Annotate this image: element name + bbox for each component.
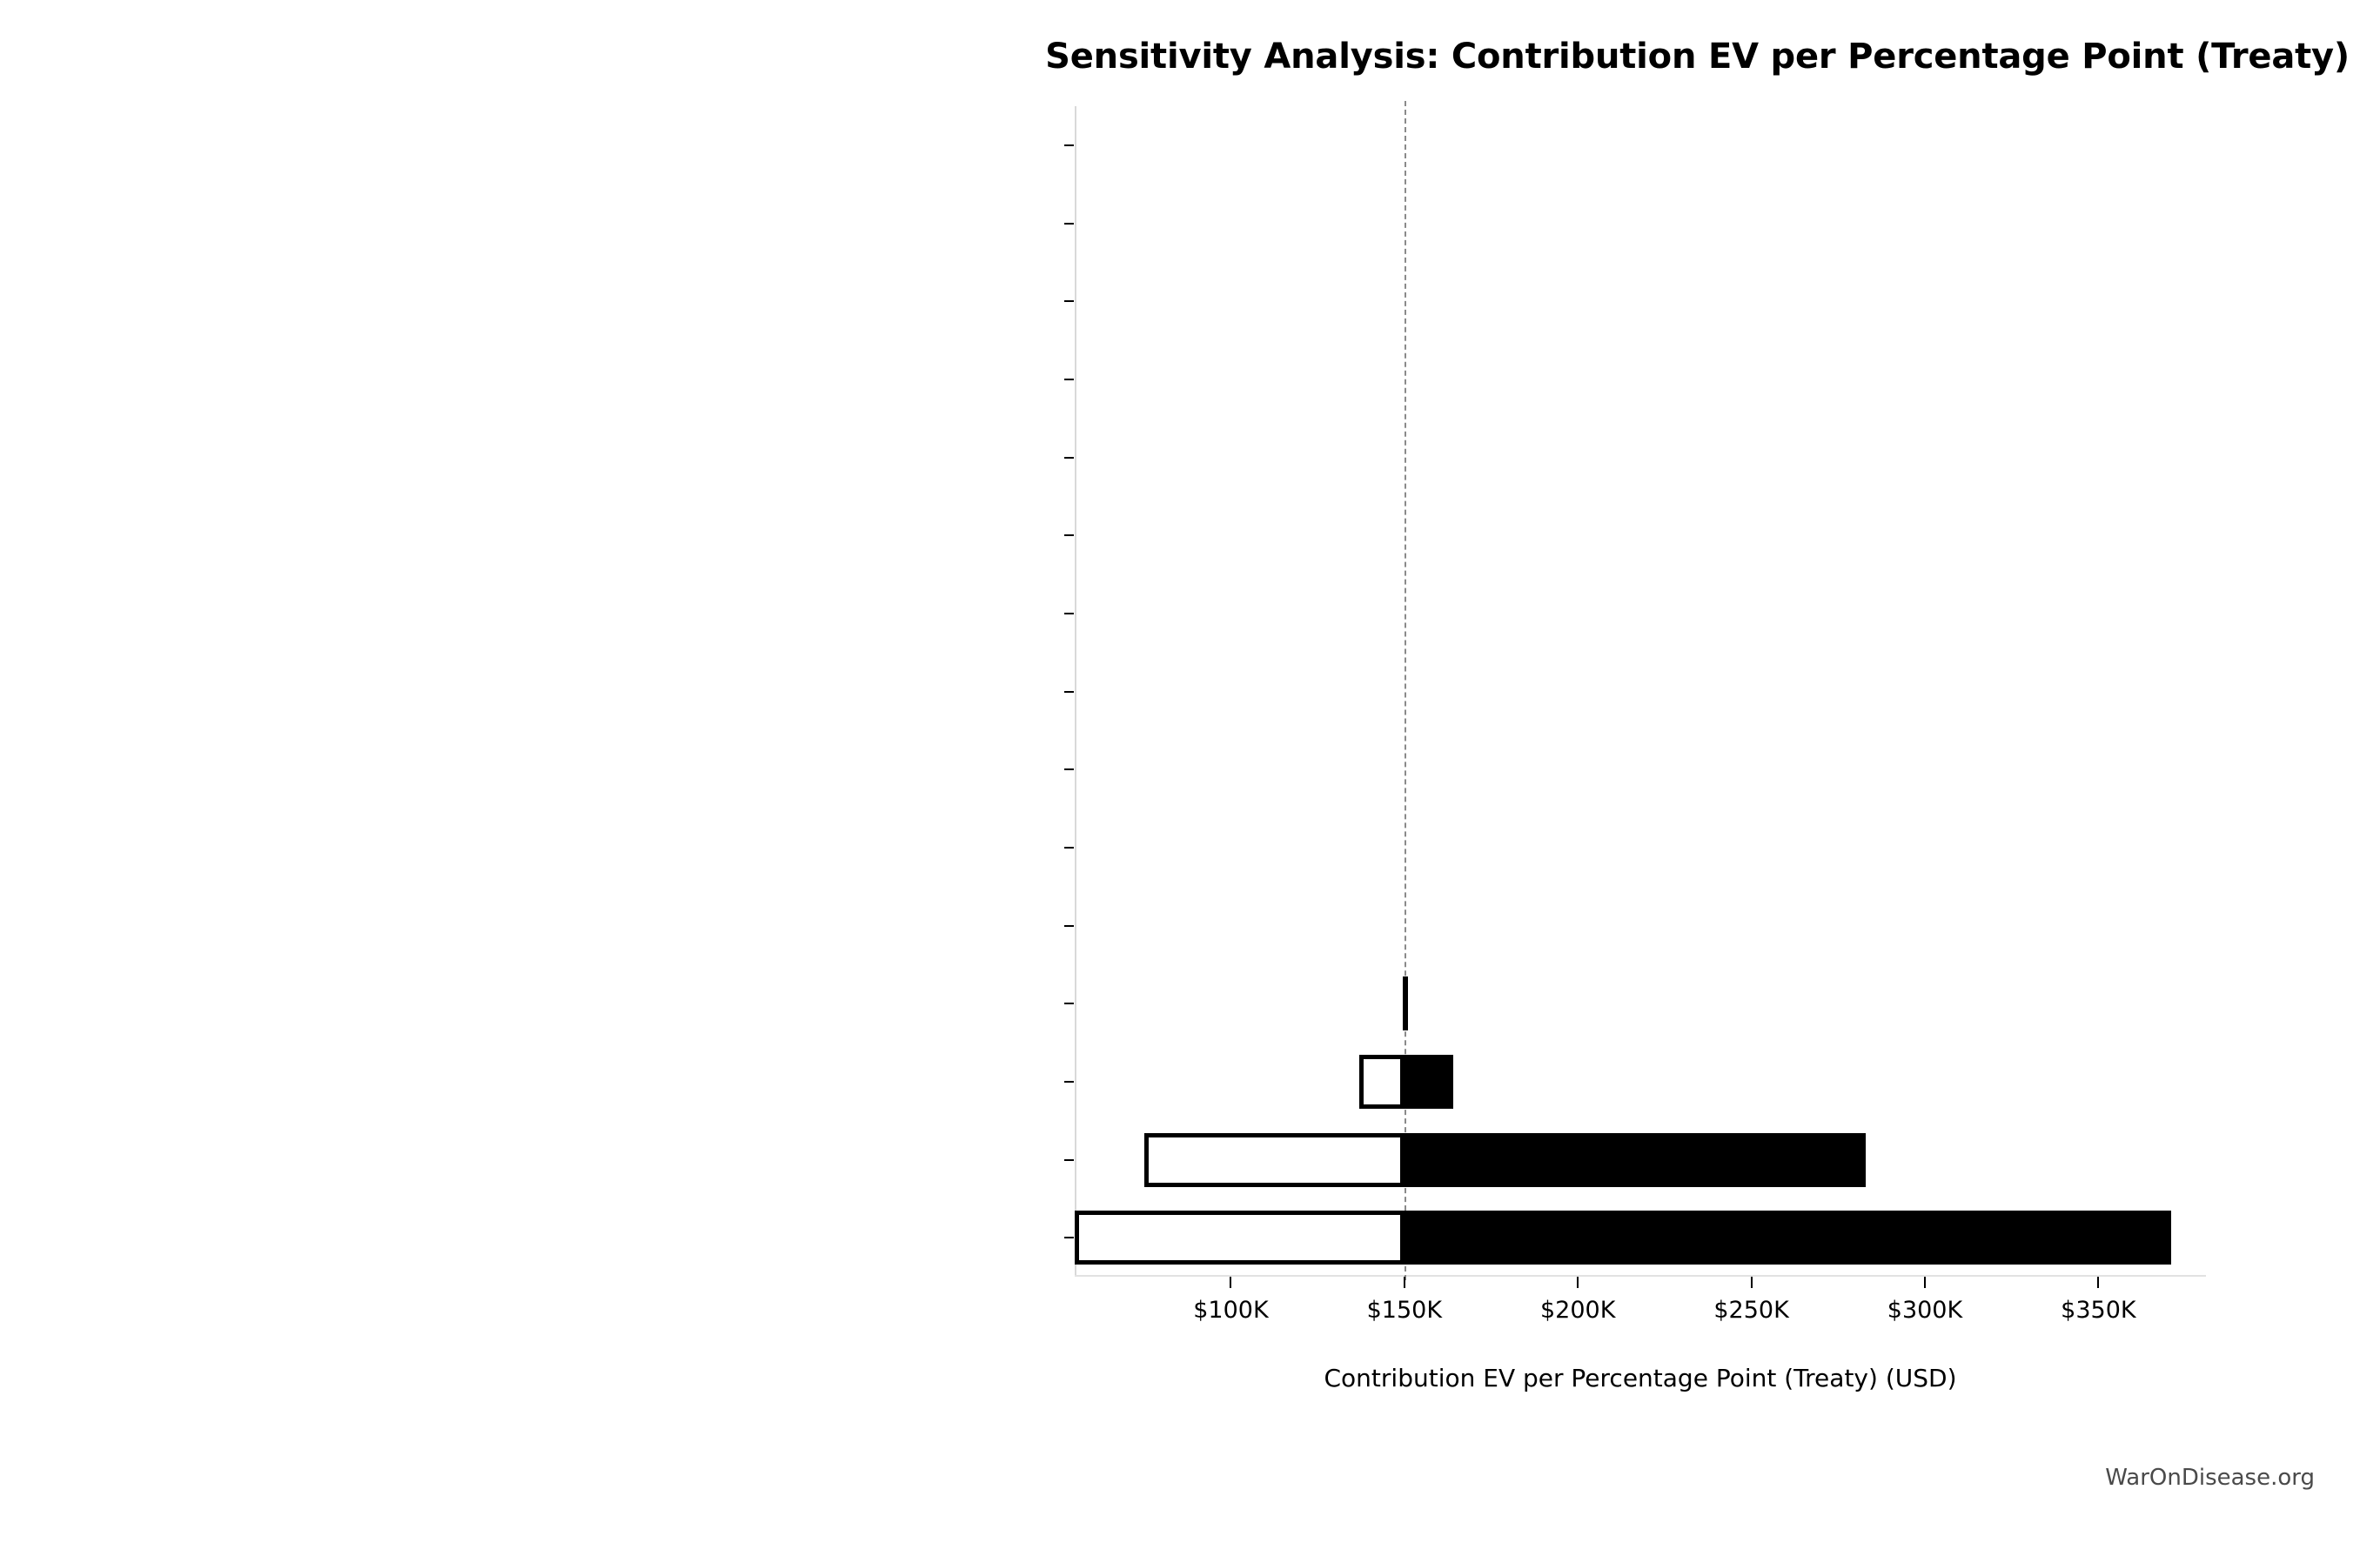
x-tick-mark [1404, 1277, 1405, 1288]
y-tick-mark [1064, 925, 1074, 927]
sensitivity-chart-figure: Sensitivity Analysis: Contribution EV pe… [0, 0, 2380, 1550]
bar-row [1075, 118, 2206, 172]
bar-row [1075, 665, 2206, 719]
plot-area [1075, 106, 2206, 1277]
y-tick-mark [1064, 768, 1074, 770]
y-tick-mark [1064, 691, 1074, 693]
x-tick-mark [1577, 1277, 1579, 1288]
bar-row [1075, 1211, 2206, 1265]
y-tick-mark [1064, 613, 1074, 614]
bar-segment-high [1405, 976, 1407, 1030]
bar-row [1075, 1133, 2206, 1187]
x-tick-mark [1924, 1277, 1926, 1288]
y-tick-mark [1064, 223, 1074, 225]
watermark-label: WarOnDisease.org [2105, 1465, 2315, 1491]
x-tick-label: $250K [1713, 1297, 1788, 1324]
bar-row [1075, 352, 2206, 406]
bar-row [1075, 587, 2206, 641]
y-tick-mark [1064, 144, 1074, 146]
bar-row [1075, 274, 2206, 328]
x-tick-label: $350K [2061, 1297, 2135, 1324]
x-tick-label: $150K [1367, 1297, 1442, 1324]
bar-segment-low [1144, 1133, 1405, 1187]
bar-row [1075, 1055, 2206, 1109]
bar-row [1075, 431, 2206, 485]
page-title: Sensitivity Analysis: Contribution EV pe… [0, 37, 2350, 77]
x-tick-mark [2097, 1277, 2099, 1288]
axis-spine-bottom [1075, 1275, 2206, 1277]
x-tick-label: $300K [1887, 1297, 1962, 1324]
bar-segment-high [1405, 1133, 1866, 1187]
x-tick-mark [1751, 1277, 1753, 1288]
bar-row [1075, 197, 2206, 251]
bar-row [1075, 508, 2206, 562]
y-tick-mark [1064, 1003, 1074, 1004]
bar-segment-low [1359, 1055, 1405, 1109]
y-tick-mark [1064, 1159, 1074, 1161]
x-tick-mark [1230, 1277, 1231, 1288]
bar-row [1075, 899, 2206, 953]
x-tick-label: $200K [1540, 1297, 1615, 1324]
y-tick-mark [1064, 1081, 1074, 1083]
y-tick-mark [1064, 379, 1074, 380]
y-tick-mark [1064, 534, 1074, 536]
bar-row [1075, 821, 2206, 875]
bar-row [1075, 742, 2206, 796]
y-tick-mark [1064, 1237, 1074, 1238]
bar-segment-high [1405, 1211, 2171, 1265]
x-axis-label: Contribution EV per Percentage Point (Tr… [1075, 1364, 2206, 1392]
bar-segment-high [1405, 1055, 1453, 1109]
bar-row [1075, 976, 2206, 1030]
y-tick-mark [1064, 300, 1074, 302]
y-tick-mark [1064, 457, 1074, 459]
y-tick-mark [1064, 847, 1074, 849]
bar-segment-low [1075, 1211, 1405, 1265]
x-tick-label: $100K [1193, 1297, 1268, 1324]
